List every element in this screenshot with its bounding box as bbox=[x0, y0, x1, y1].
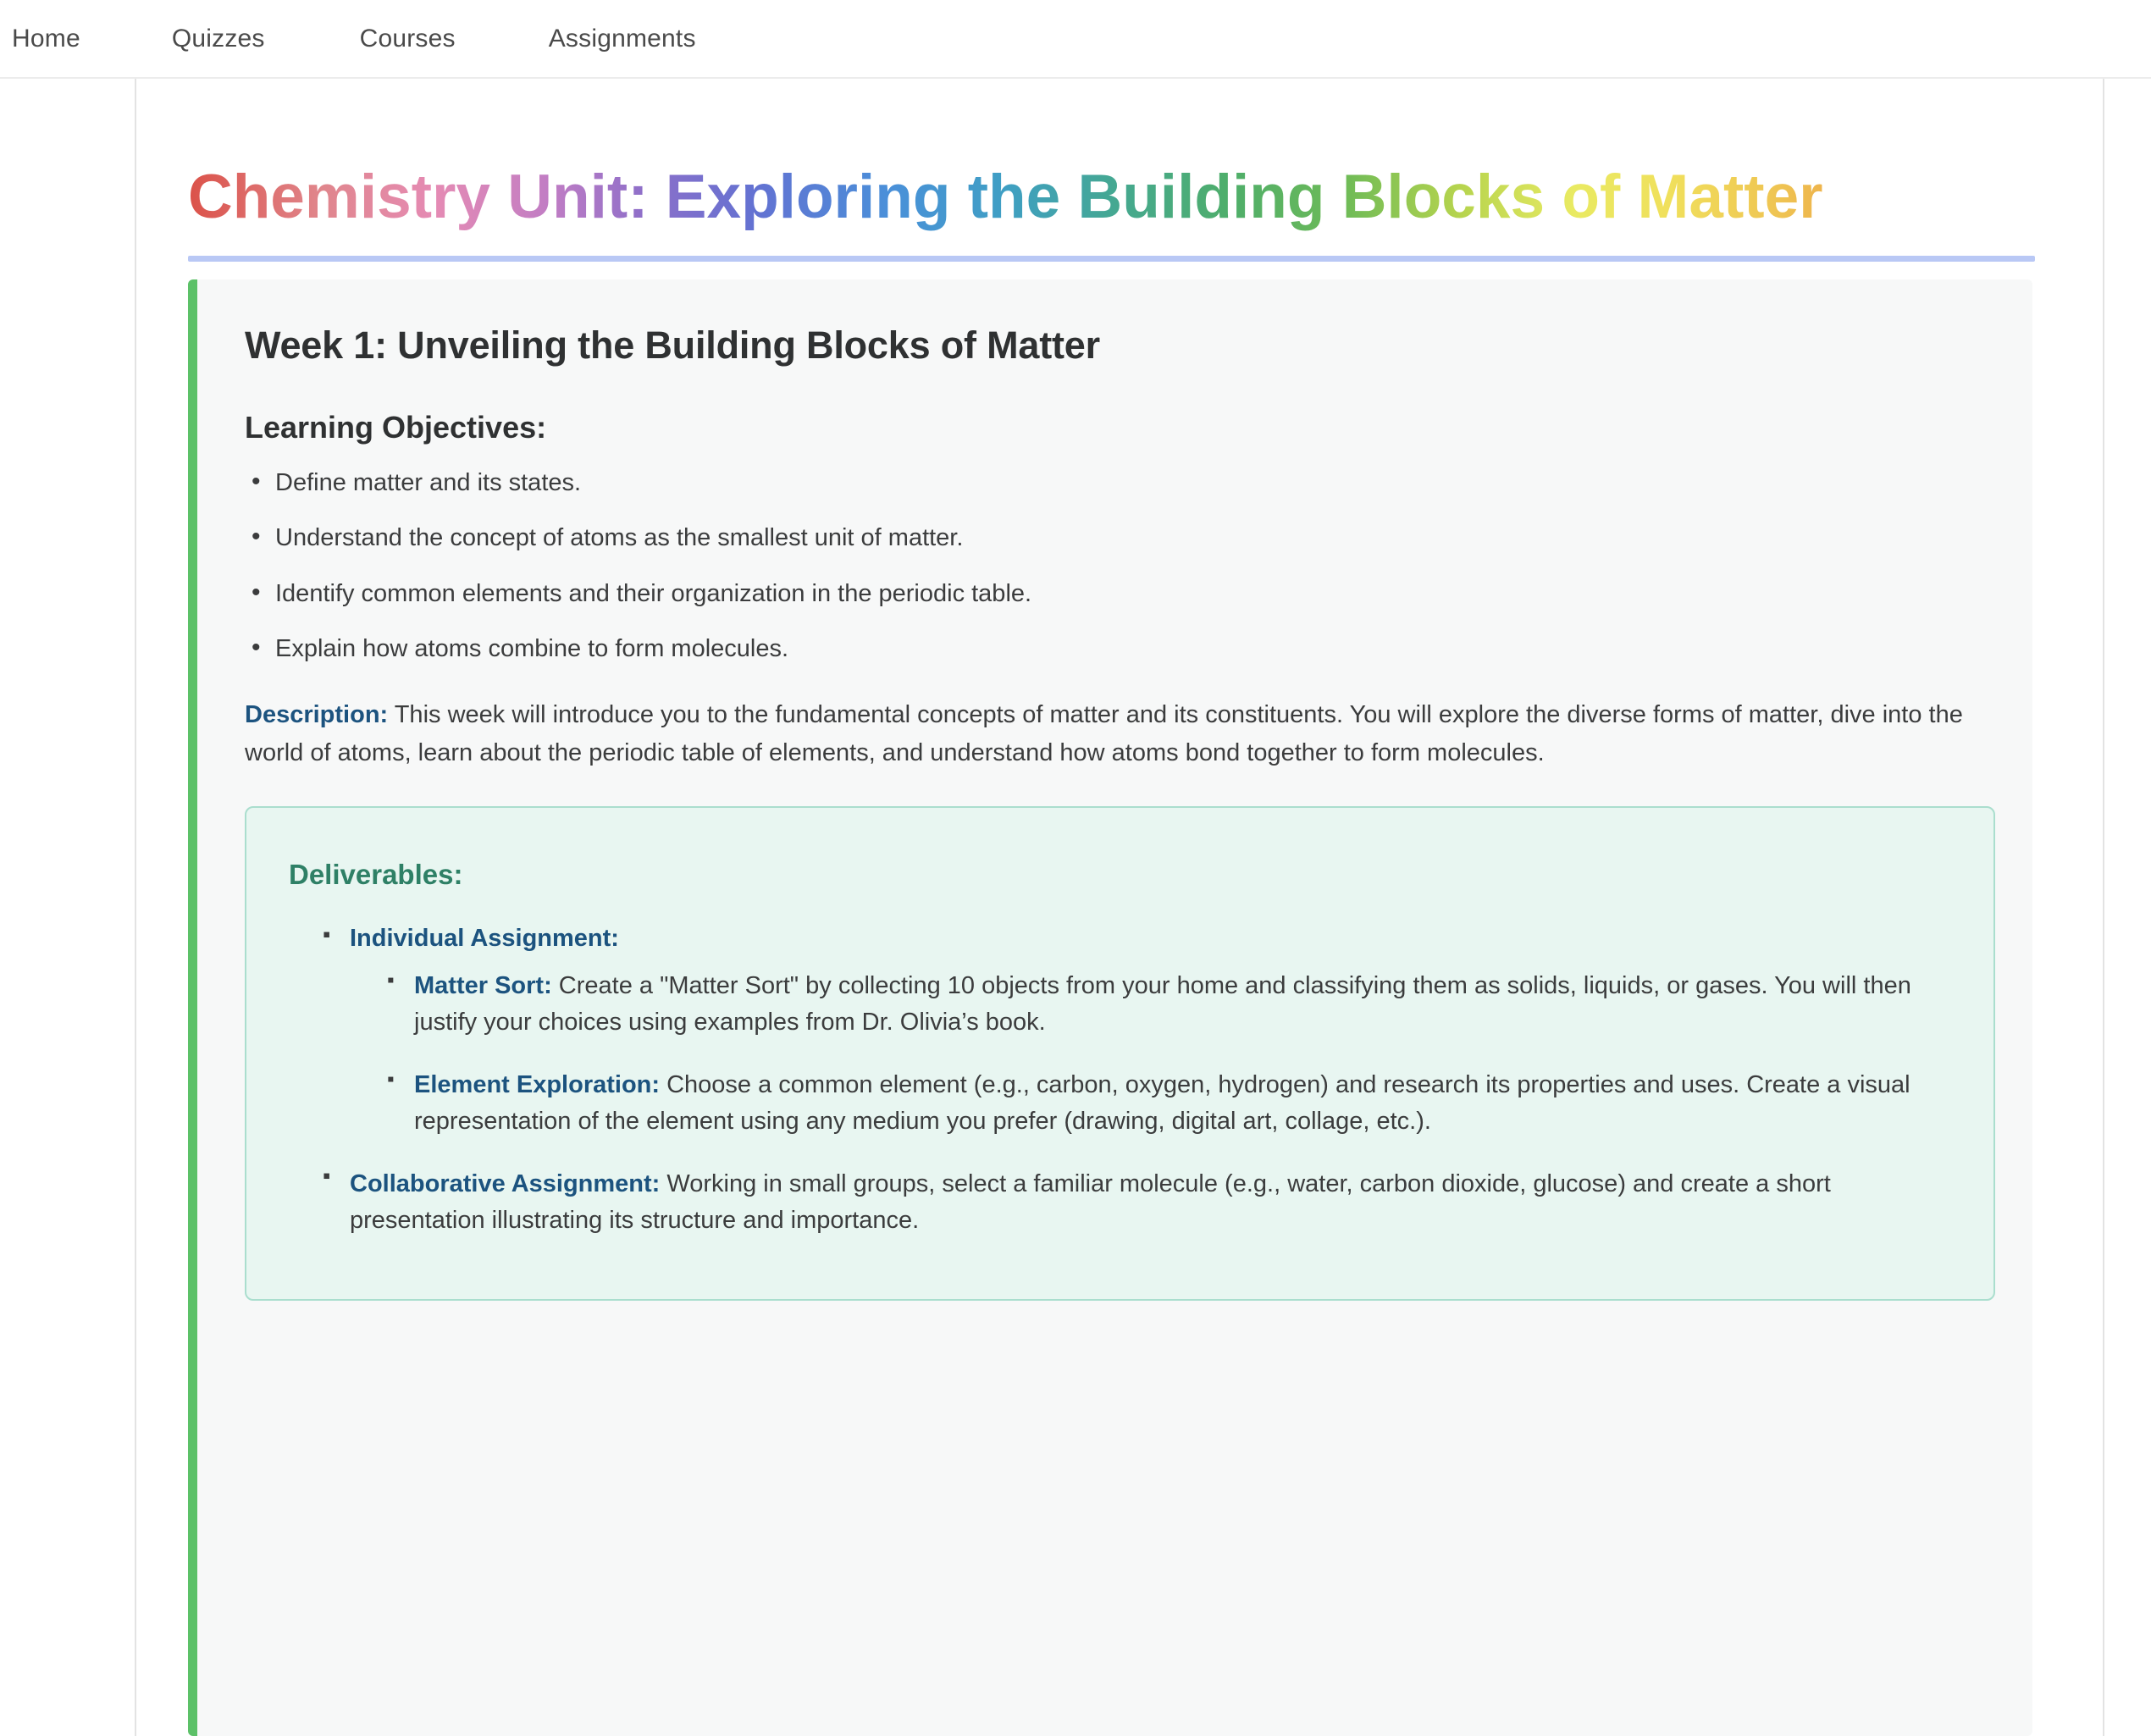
learning-objectives-list: Define matter and its states. Understand… bbox=[245, 467, 1985, 664]
week-heading: Week 1: Unveiling the Building Blocks of… bbox=[245, 323, 1985, 368]
page-content: Chemistry Unit: Exploring the Building B… bbox=[138, 79, 2103, 1736]
nav-item-courses[interactable]: Courses bbox=[360, 25, 456, 53]
list-item: Understand the concept of atoms as the s… bbox=[245, 522, 1985, 553]
deliverables-box: Deliverables: Individual Assignment: Mat… bbox=[245, 806, 1995, 1301]
individual-assignment-sublist: Matter Sort: Create a "Matter Sort" by c… bbox=[350, 968, 1951, 1141]
deliverables-heading: Deliverables: bbox=[289, 859, 1951, 891]
description-paragraph: Description: This week will introduce yo… bbox=[245, 696, 1993, 772]
nav-item-assignments[interactable]: Assignments bbox=[549, 25, 696, 53]
list-item: Element Exploration: Choose a common ele… bbox=[387, 1067, 1951, 1141]
nav-item-home[interactable]: Home bbox=[12, 25, 80, 53]
list-item: Identify common elements and their organ… bbox=[245, 578, 1985, 609]
nav-item-quizzes[interactable]: Quizzes bbox=[172, 25, 265, 53]
page-title: Chemistry Unit: Exploring the Building B… bbox=[188, 163, 2086, 231]
list-item-individual-assignment: Individual Assignment: Matter Sort: Crea… bbox=[323, 925, 1951, 1141]
deliverables-list: Individual Assignment: Matter Sort: Crea… bbox=[289, 925, 1951, 1240]
top-navigation-bar: Home Quizzes Courses Assignments bbox=[0, 0, 2151, 79]
learning-objectives-heading: Learning Objectives: bbox=[245, 410, 1985, 445]
title-divider bbox=[188, 256, 2035, 262]
list-item-collaborative-assignment: Collaborative Assignment: Working in sma… bbox=[323, 1166, 1951, 1240]
week-card: Week 1: Unveiling the Building Blocks of… bbox=[188, 279, 2032, 1736]
element-exploration-label: Element Exploration: bbox=[414, 1071, 660, 1098]
description-text: This week will introduce you to the fund… bbox=[245, 701, 1963, 766]
list-item: Define matter and its states. bbox=[245, 467, 1985, 498]
list-item: Explain how atoms combine to form molecu… bbox=[245, 633, 1985, 664]
description-label: Description: bbox=[245, 701, 388, 728]
list-item: Matter Sort: Create a "Matter Sort" by c… bbox=[387, 968, 1951, 1042]
matter-sort-label: Matter Sort: bbox=[414, 972, 552, 999]
week-card-body: Week 1: Unveiling the Building Blocks of… bbox=[197, 279, 2032, 1301]
matter-sort-text: Create a "Matter Sort" by collecting 10 … bbox=[414, 972, 1911, 1037]
right-rail bbox=[2103, 79, 2151, 1736]
left-rail bbox=[0, 79, 136, 1736]
collaborative-assignment-label: Collaborative Assignment: bbox=[350, 1170, 660, 1197]
individual-assignment-label: Individual Assignment: bbox=[350, 925, 619, 952]
